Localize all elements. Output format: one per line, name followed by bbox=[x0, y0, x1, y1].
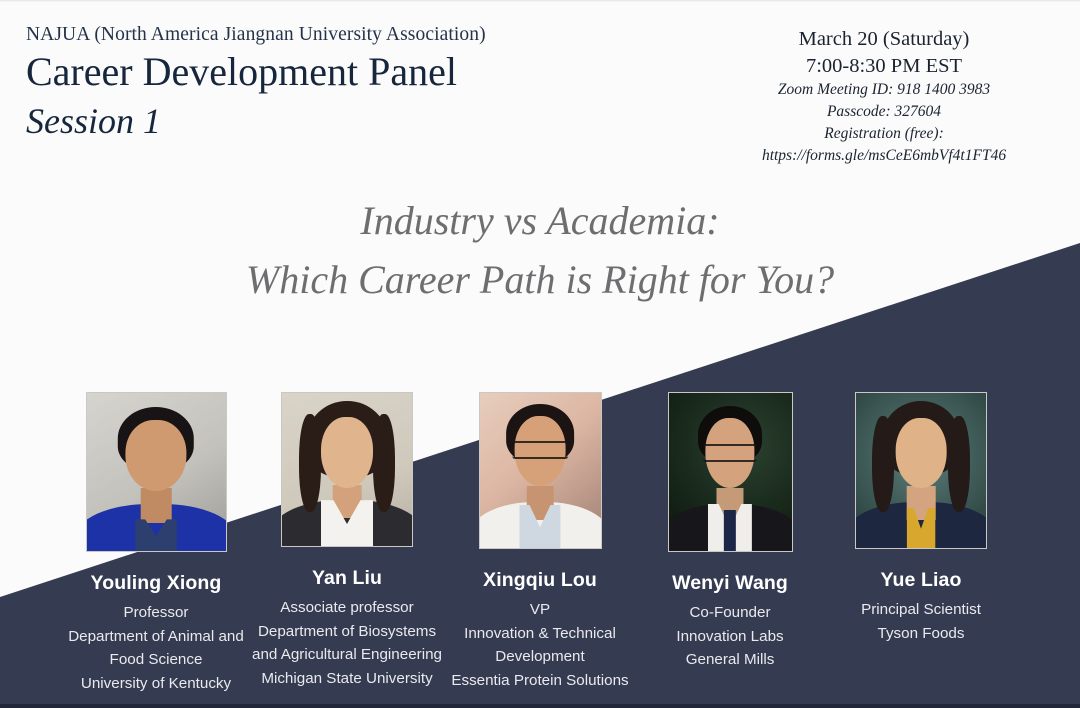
poster-canvas: NAJUA (North America Jiangnan University… bbox=[0, 0, 1080, 708]
speaker-detail-line: Associate professor bbox=[252, 596, 442, 620]
speaker-detail-line: Essentia Protein Solutions bbox=[451, 669, 628, 693]
speaker-detail-line: Food Science bbox=[68, 648, 244, 672]
registration-url[interactable]: https://forms.gle/msCeE6mbVf4t1FT46 bbox=[724, 145, 1044, 167]
organization-name: NAJUA (North America Jiangnan University… bbox=[26, 24, 486, 46]
zoom-meeting-id: Zoom Meeting ID: 918 1400 3983 bbox=[724, 79, 1044, 101]
speaker-photo-youling-xiong bbox=[86, 392, 227, 552]
speaker-card: Yan Liu Associate professor Department o… bbox=[251, 392, 443, 690]
speaker-details: Professor Department of Animal and Food … bbox=[68, 601, 244, 695]
speaker-name: Xingqiu Lou bbox=[483, 569, 597, 592]
speaker-photo-yue-liao bbox=[855, 392, 987, 549]
speaker-detail-line: Innovation Labs bbox=[676, 625, 783, 649]
speaker-detail-line: Development bbox=[451, 645, 628, 669]
page-title: Industry vs Academia: Which Career Path … bbox=[0, 192, 1080, 310]
speaker-name: Youling Xiong bbox=[91, 572, 222, 595]
speaker-name: Yue Liao bbox=[881, 569, 962, 592]
event-time: 7:00-8:30 PM EST bbox=[724, 53, 1044, 80]
speaker-detail-line: University of Kentucky bbox=[68, 672, 244, 696]
header-left-block: NAJUA (North America Jiangnan University… bbox=[26, 24, 486, 142]
speaker-detail-line: and Agricultural Engineering bbox=[252, 643, 442, 667]
panel-title-line-2: Which Career Path is Right for You? bbox=[0, 251, 1080, 310]
speaker-card: Youling Xiong Professor Department of An… bbox=[61, 392, 251, 695]
speaker-card: Yue Liao Principal Scientist Tyson Foods bbox=[823, 392, 1019, 645]
speaker-photo-xingqiu-lou bbox=[479, 392, 602, 549]
speaker-detail-line: VP bbox=[451, 598, 628, 622]
speaker-details: Principal Scientist Tyson Foods bbox=[861, 598, 981, 645]
speaker-photo-yan-liu bbox=[281, 392, 413, 547]
panel-title-line-1: Industry vs Academia: bbox=[0, 192, 1080, 251]
speaker-details: VP Innovation & Technical Development Es… bbox=[451, 598, 628, 692]
speaker-details: Co-Founder Innovation Labs General Mills bbox=[676, 601, 783, 672]
speaker-name: Yan Liu bbox=[312, 567, 382, 590]
speaker-card: Wenyi Wang Co-Founder Innovation Labs Ge… bbox=[637, 392, 823, 672]
zoom-passcode: Passcode: 327604 bbox=[724, 101, 1044, 123]
speaker-name: Wenyi Wang bbox=[672, 572, 788, 595]
speaker-detail-line: Innovation & Technical bbox=[451, 622, 628, 646]
speaker-photo-wenyi-wang bbox=[668, 392, 793, 552]
speaker-detail-line: Co-Founder bbox=[676, 601, 783, 625]
event-date: March 20 (Saturday) bbox=[724, 27, 1044, 53]
session-label: Session 1 bbox=[26, 100, 486, 142]
speaker-details: Associate professor Department of Biosys… bbox=[252, 596, 442, 690]
top-hairline-rule bbox=[0, 0, 1080, 3]
speaker-detail-line: Department of Biosystems bbox=[252, 620, 442, 644]
speaker-detail-line: Professor bbox=[68, 601, 244, 625]
event-title: Career Development Panel bbox=[26, 50, 486, 95]
speaker-detail-line: Michigan State University bbox=[252, 667, 442, 691]
speaker-detail-line: Tyson Foods bbox=[861, 622, 981, 646]
speaker-detail-line: General Mills bbox=[676, 648, 783, 672]
bottom-edge-rule bbox=[0, 704, 1080, 708]
speaker-card: Xingqiu Lou VP Innovation & Technical De… bbox=[443, 392, 637, 692]
speaker-detail-line: Department of Animal and bbox=[68, 625, 244, 649]
event-info-block: March 20 (Saturday) 7:00-8:30 PM EST Zoo… bbox=[724, 27, 1044, 167]
registration-label: Registration (free): bbox=[724, 123, 1044, 145]
speaker-list: Youling Xiong Professor Department of An… bbox=[0, 392, 1080, 695]
speaker-detail-line: Principal Scientist bbox=[861, 598, 981, 622]
